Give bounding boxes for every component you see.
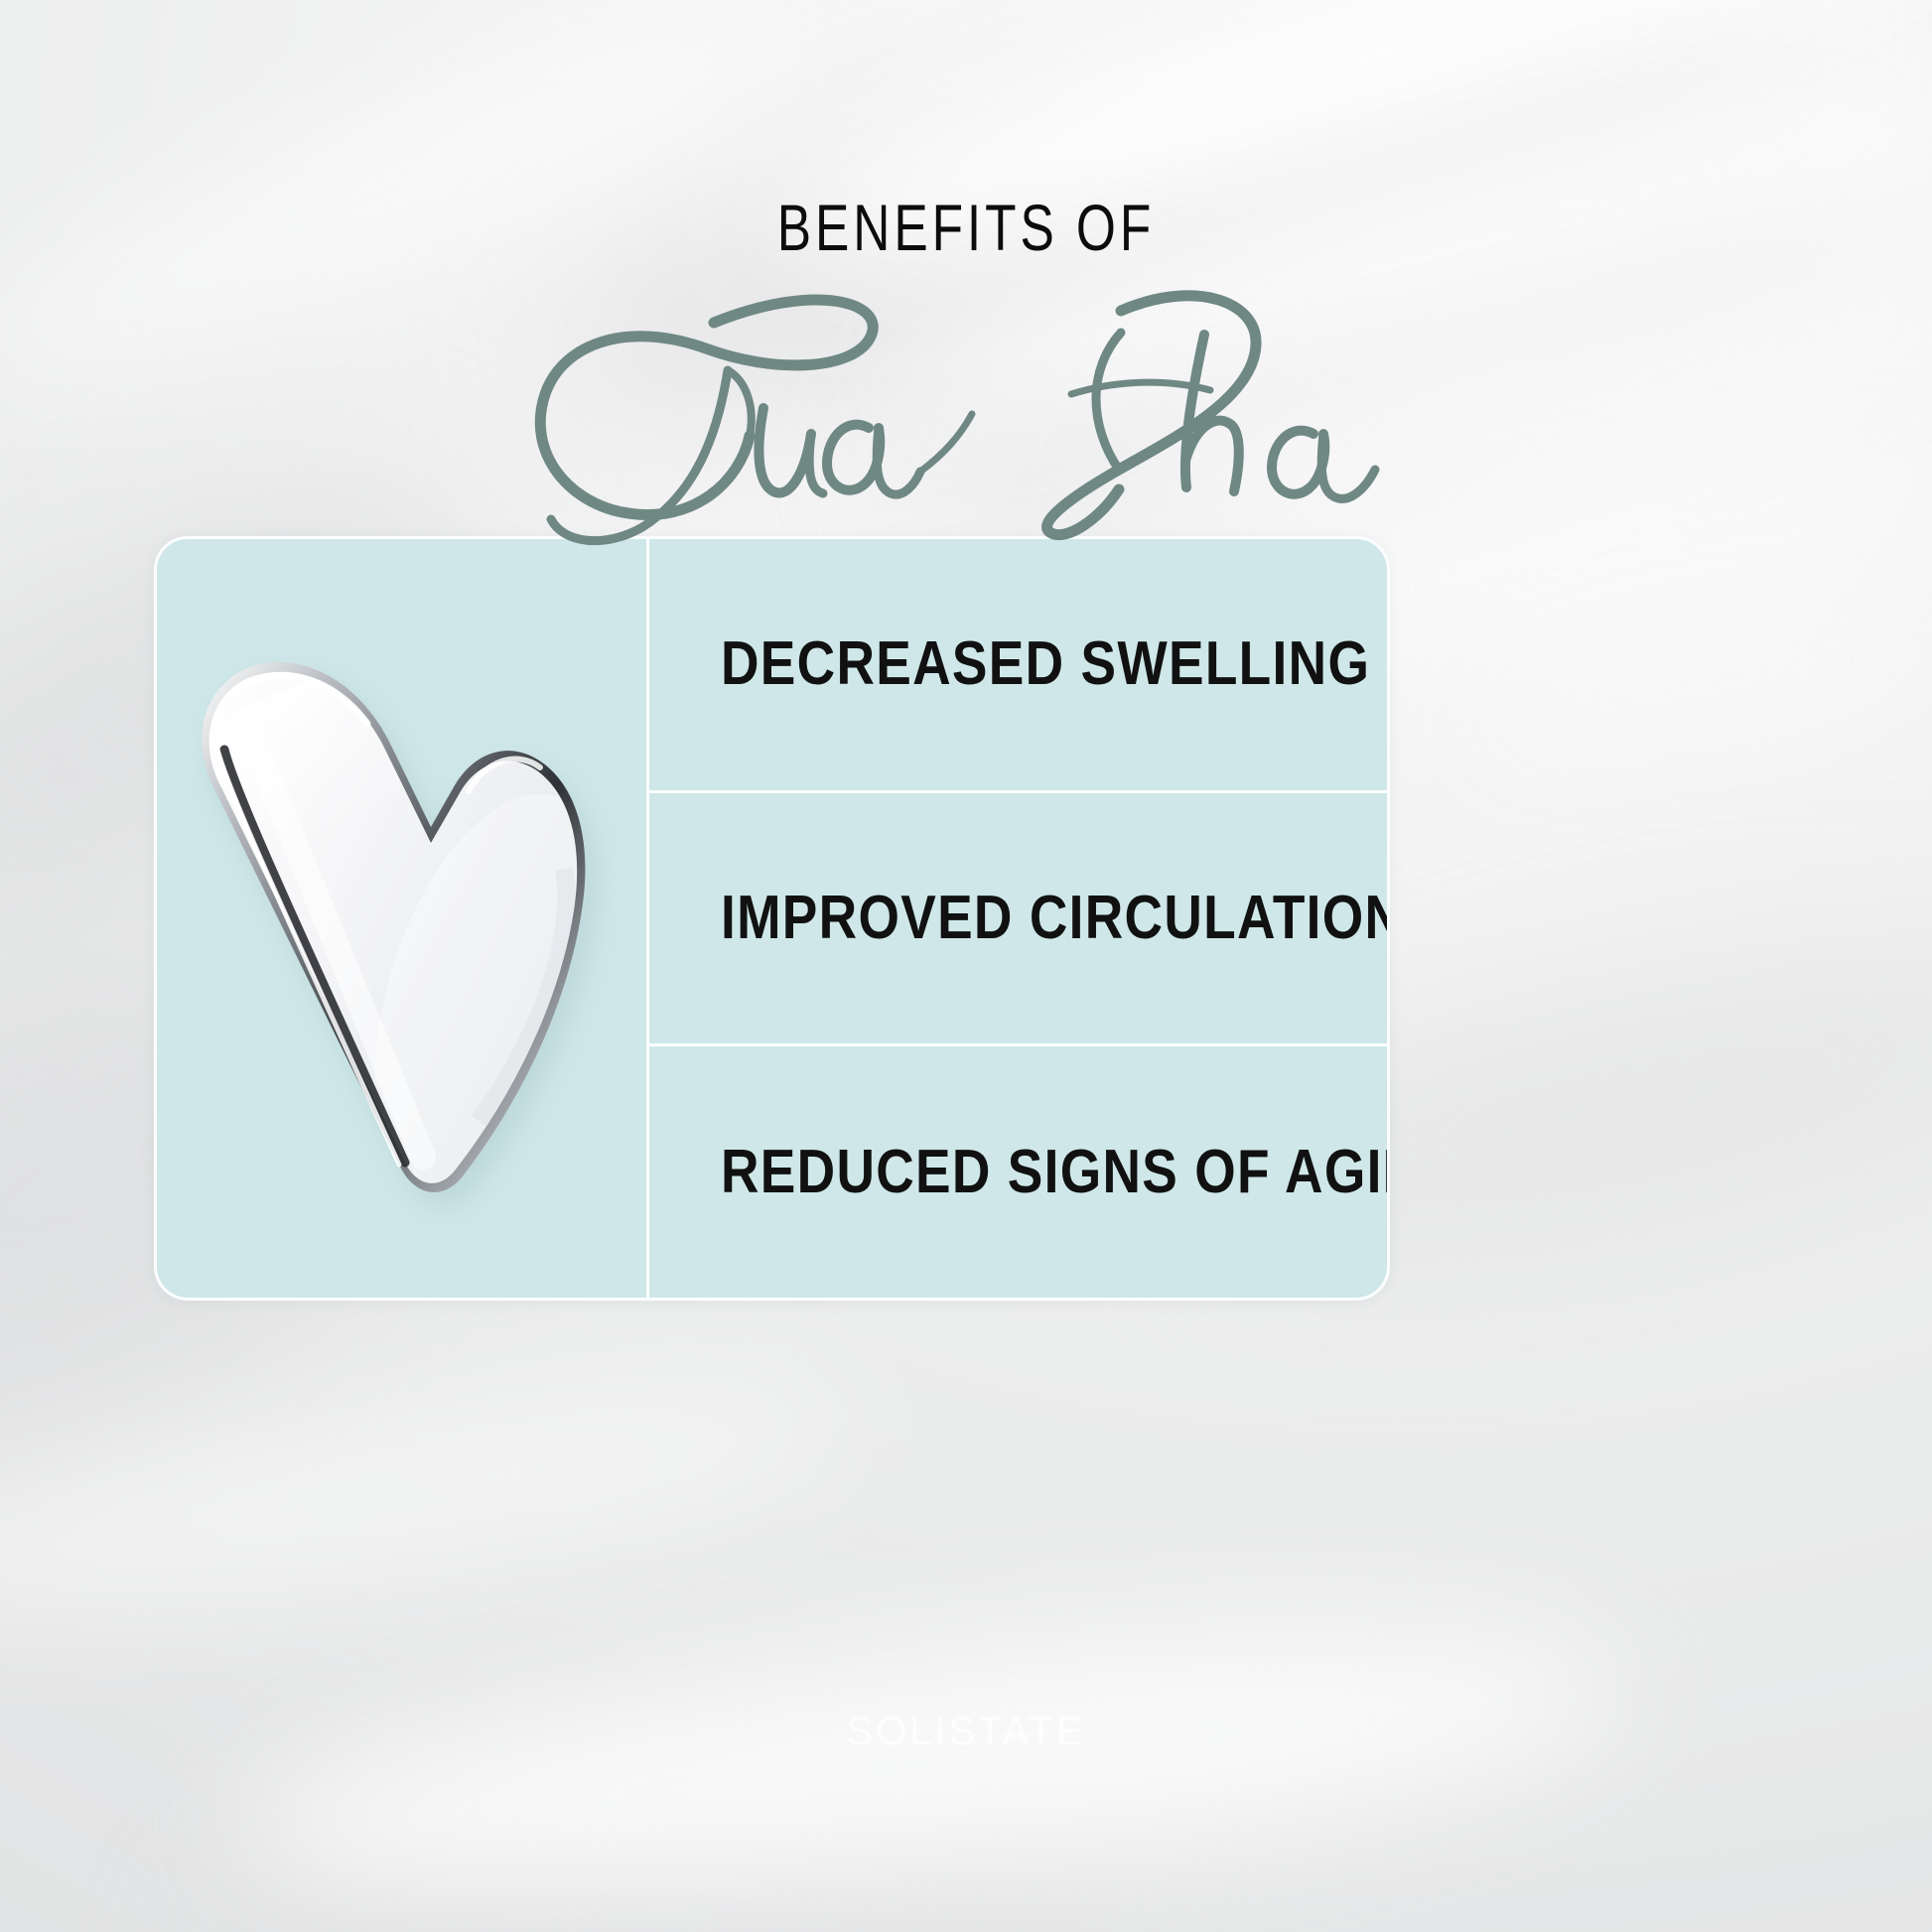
benefit-row: IMPROVED CIRCULATION <box>649 793 1390 1047</box>
script-title-wrap <box>0 254 1932 552</box>
header: BENEFITS OF <box>0 0 1932 552</box>
watermark: SOLISTATE <box>0 1710 1932 1754</box>
benefits-card: DECREASED SWELLING IMPROVED CIRCULATION … <box>154 536 1390 1301</box>
page-eyebrow: BENEFITS OF <box>212 195 1720 260</box>
benefit-row: REDUCED SIGNS OF AGING <box>649 1046 1390 1298</box>
card-image-panel <box>157 539 649 1298</box>
benefits-list: DECREASED SWELLING IMPROVED CIRCULATION … <box>649 539 1390 1298</box>
benefit-label: DECREASED SWELLING <box>721 633 1370 695</box>
script-title-gua-sha <box>519 259 1413 547</box>
background-light-streak <box>0 1333 862 1665</box>
background-light-streak <box>1465 592 1932 769</box>
background-shadow-streak <box>211 1778 1119 1932</box>
benefit-row: DECREASED SWELLING <box>649 539 1390 793</box>
benefit-label: IMPROVED CIRCULATION <box>721 888 1390 949</box>
benefit-label: REDUCED SIGNS OF AGING <box>721 1142 1390 1203</box>
gua-sha-tool-image <box>175 601 641 1236</box>
